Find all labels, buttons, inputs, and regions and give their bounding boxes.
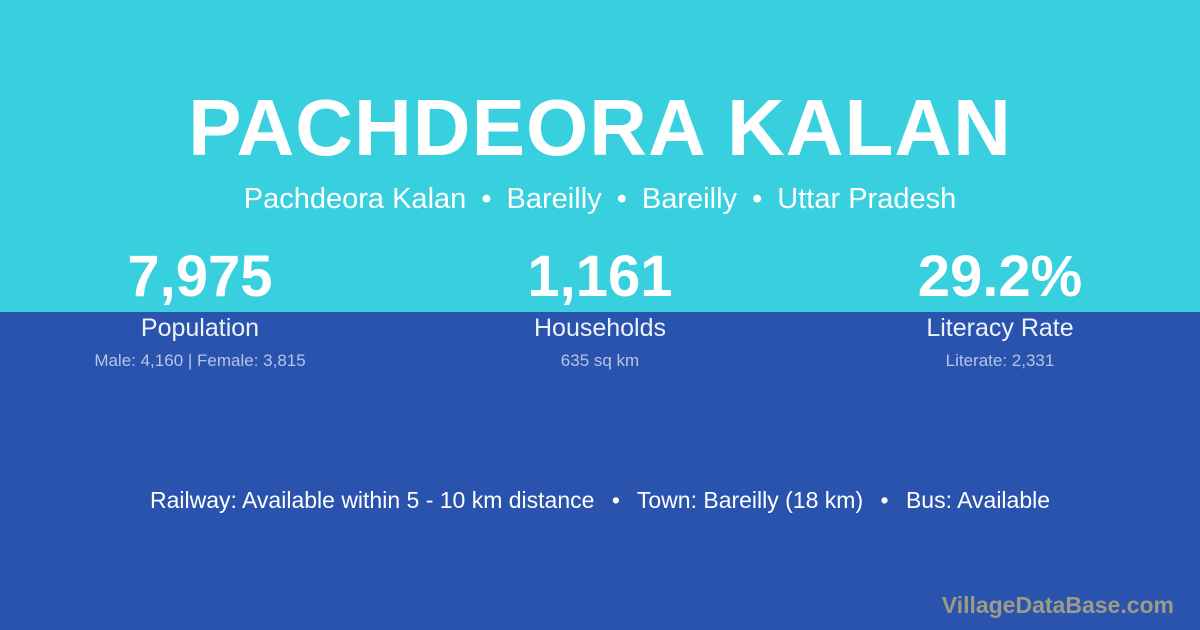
breadcrumb-separator: • (745, 183, 769, 215)
amenity-town: Town: Bareilly (18 km) (637, 487, 863, 513)
breadcrumb-block: Bareilly (507, 183, 602, 215)
breadcrumb: Pachdeora Kalan • Bareilly • Bareilly • … (0, 180, 1200, 218)
stat-label: Population (0, 312, 400, 344)
stat-value: 29.2% (800, 244, 1200, 310)
stat-subtext: Male: 4,160 | Female: 3,815 (0, 350, 400, 372)
stat-value: 7,975 (0, 244, 400, 310)
stat-subtext: Literate: 2,331 (800, 350, 1200, 372)
stat-label: Literacy Rate (800, 312, 1200, 344)
stat-households: 1,161 Households 635 sq km (400, 244, 800, 372)
breadcrumb-state: Uttar Pradesh (777, 183, 956, 215)
amenity-railway: Railway: Available within 5 - 10 km dist… (150, 487, 594, 513)
breadcrumb-village: Pachdeora Kalan (244, 183, 467, 215)
breadcrumb-separator: • (474, 183, 498, 215)
breadcrumb-district: Bareilly (642, 183, 737, 215)
stat-literacy-rate: 29.2% Literacy Rate Literate: 2,331 (800, 244, 1200, 372)
site-brand-logo: VillageDataBase.com (942, 590, 1174, 620)
stat-value: 1,161 (400, 244, 800, 310)
village-info-card: PACHDEORA KALAN Pachdeora Kalan • Bareil… (0, 0, 1200, 630)
breadcrumb-separator: • (610, 183, 634, 215)
stat-subtext: 635 sq km (400, 350, 800, 372)
stat-population: 7,975 Population Male: 4,160 | Female: 3… (0, 244, 400, 372)
amenity-separator: • (870, 487, 900, 513)
amenity-bus: Bus: Available (906, 487, 1050, 513)
amenity-separator: • (601, 487, 631, 513)
stats-row: 7,975 Population Male: 4,160 | Female: 3… (0, 244, 1200, 372)
page-title: PACHDEORA KALAN (0, 84, 1200, 172)
stat-label: Households (400, 312, 800, 344)
amenities-line: Railway: Available within 5 - 10 km dist… (0, 483, 1200, 517)
